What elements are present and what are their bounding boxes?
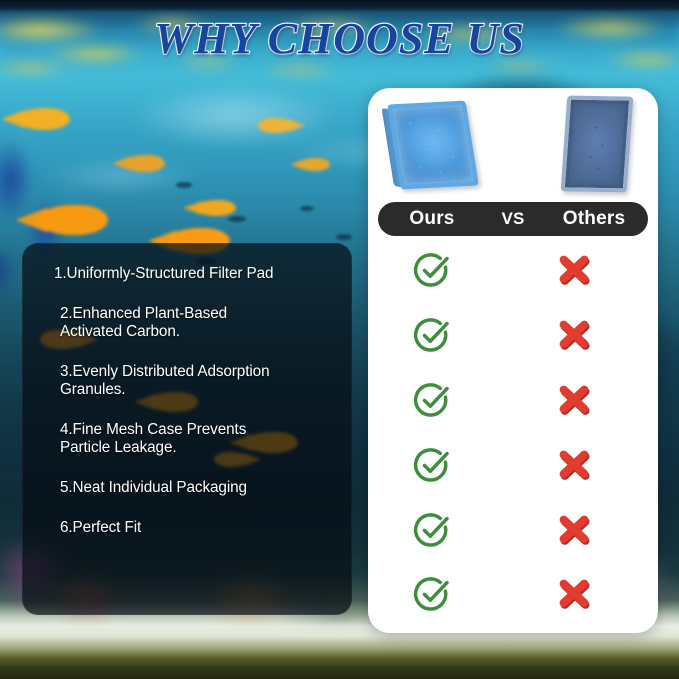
fish-distant-2 xyxy=(228,216,246,222)
fish-distant-1 xyxy=(176,182,192,188)
cell-ours xyxy=(368,251,496,289)
circle-check-icon xyxy=(413,575,451,613)
list-item: 4.Fine Mesh Case Prevents Particle Leaka… xyxy=(60,421,336,457)
circle-check-icon xyxy=(413,381,451,419)
cell-ours xyxy=(368,511,496,549)
fish-goldfish-3 xyxy=(38,205,108,235)
pad-texture xyxy=(567,102,627,187)
cell-ours xyxy=(368,446,496,484)
list-item: 2.Enhanced Plant-Based Activated Carbon. xyxy=(60,305,336,341)
list-item: 3.Evenly Distributed Adsorption Granules… xyxy=(60,363,336,399)
fish-goldfish-2 xyxy=(125,155,165,172)
cross-icon xyxy=(556,513,592,547)
cell-ours xyxy=(368,575,496,613)
list-item: 5.Neat Individual Packaging xyxy=(60,479,336,497)
table-row xyxy=(368,368,658,433)
cell-others xyxy=(496,253,658,287)
cell-ours xyxy=(368,316,496,354)
top-dark-edge xyxy=(0,0,679,12)
table-row xyxy=(368,432,658,497)
column-header-ours: Ours xyxy=(378,208,486,230)
cross-icon xyxy=(556,253,592,287)
cell-others xyxy=(496,577,658,611)
list-item: 1.Uniformly-Structured Filter Pad xyxy=(54,265,336,283)
poster-root: WHY CHOOSE US 1.Uniformly-Structured Fil… xyxy=(0,0,679,679)
comparison-card: Ours VS Others xyxy=(368,88,658,633)
cross-icon xyxy=(556,383,592,417)
fish-goldfish-6 xyxy=(258,118,294,133)
table-row xyxy=(368,303,658,368)
fish-distant-4 xyxy=(336,234,352,240)
cell-ours xyxy=(368,381,496,419)
comparison-header-bar: Ours VS Others xyxy=(378,202,648,236)
cell-others xyxy=(496,383,658,417)
table-row xyxy=(368,497,658,562)
cross-icon xyxy=(556,318,592,352)
cell-others xyxy=(496,318,658,352)
cell-others xyxy=(496,448,658,482)
comparison-rows xyxy=(368,238,658,633)
table-row xyxy=(368,562,658,627)
card-base xyxy=(368,621,658,633)
fish-distant-3 xyxy=(300,206,314,211)
features-list: 1.Uniformly-Structured Filter Pad 2.Enha… xyxy=(22,243,352,615)
others-filter-pad-image xyxy=(561,96,634,193)
cross-icon xyxy=(556,448,592,482)
product-images-row xyxy=(368,88,658,202)
column-header-others: Others xyxy=(540,208,648,230)
fish-goldfish-1 xyxy=(18,108,70,130)
circle-check-icon xyxy=(413,446,451,484)
circle-check-icon xyxy=(413,251,451,289)
table-row xyxy=(368,238,658,303)
features-panel: 1.Uniformly-Structured Filter Pad 2.Enha… xyxy=(22,243,352,615)
page-title: WHY CHOOSE US xyxy=(0,13,679,64)
column-header-vs: VS xyxy=(486,209,540,229)
circle-check-icon xyxy=(413,511,451,549)
cross-icon xyxy=(556,577,592,611)
fish-goldfish-7 xyxy=(300,158,330,171)
list-item: 6.Perfect Fit xyxy=(60,519,336,537)
circle-check-icon xyxy=(413,316,451,354)
ours-filter-pad-image xyxy=(387,100,479,189)
pad-texture xyxy=(395,108,471,182)
fish-goldfish-4 xyxy=(196,200,236,216)
cell-others xyxy=(496,513,658,547)
